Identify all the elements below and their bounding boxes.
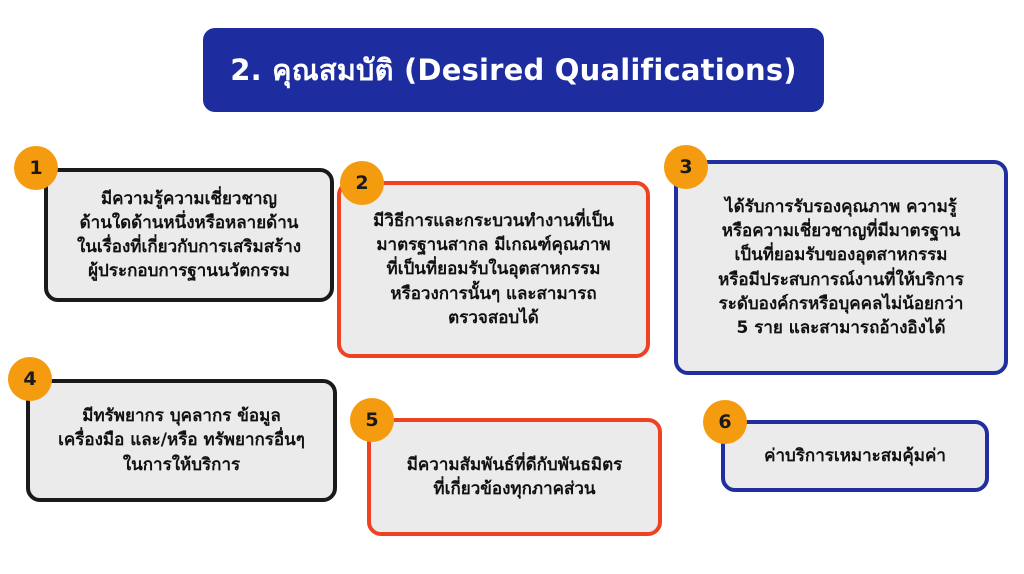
qualification-card-2-text: มีวิธีการและกระบวนทำงานที่เป็น มาตรฐานสา… xyxy=(359,203,628,336)
qualification-card-1: มีความรู้ความเชี่ยวชาญ ด้านใดด้านหนึ่งหร… xyxy=(44,168,334,302)
qualification-badge-5: 5 xyxy=(350,398,394,442)
slide-canvas: 2. คุณสมบัติ (Desired Qualifications) มี… xyxy=(0,0,1024,574)
qualification-badge-1: 1 xyxy=(14,146,58,190)
qualification-badge-4: 4 xyxy=(8,357,52,401)
qualification-badge-2: 2 xyxy=(340,161,384,205)
qualification-badge-6: 6 xyxy=(703,400,747,444)
qualification-card-3: ได้รับการรับรองคุณภาพ ความรู้ หรือความเช… xyxy=(674,160,1008,375)
qualification-card-3-text: ได้รับการรับรองคุณภาพ ความรู้ หรือความเช… xyxy=(704,189,978,346)
qualification-card-4-text: มีทรัพยากร บุคลากร ข้อมูล เครื่องมือ และ… xyxy=(44,398,319,482)
page-title: 2. คุณสมบัติ (Desired Qualifications) xyxy=(230,53,797,88)
header-banner: 2. คุณสมบัติ (Desired Qualifications) xyxy=(203,28,824,112)
qualification-card-2: มีวิธีการและกระบวนทำงานที่เป็น มาตรฐานสา… xyxy=(337,181,650,358)
qualification-card-4: มีทรัพยากร บุคลากร ข้อมูล เครื่องมือ และ… xyxy=(26,379,337,502)
qualification-card-5-text: มีความสัมพันธ์ที่ดีกับพันธมิตร ที่เกี่ยว… xyxy=(393,447,637,507)
qualification-card-6: ค่าบริการเหมาะสมคุ้มค่า xyxy=(721,420,989,492)
qualification-card-5: มีความสัมพันธ์ที่ดีกับพันธมิตร ที่เกี่ยว… xyxy=(367,418,662,536)
qualification-card-1-text: มีความรู้ความเชี่ยวชาญ ด้านใดด้านหนึ่งหร… xyxy=(63,181,315,290)
qualification-card-6-text: ค่าบริการเหมาะสมคุ้มค่า xyxy=(750,438,960,474)
qualification-badge-3: 3 xyxy=(664,145,708,189)
